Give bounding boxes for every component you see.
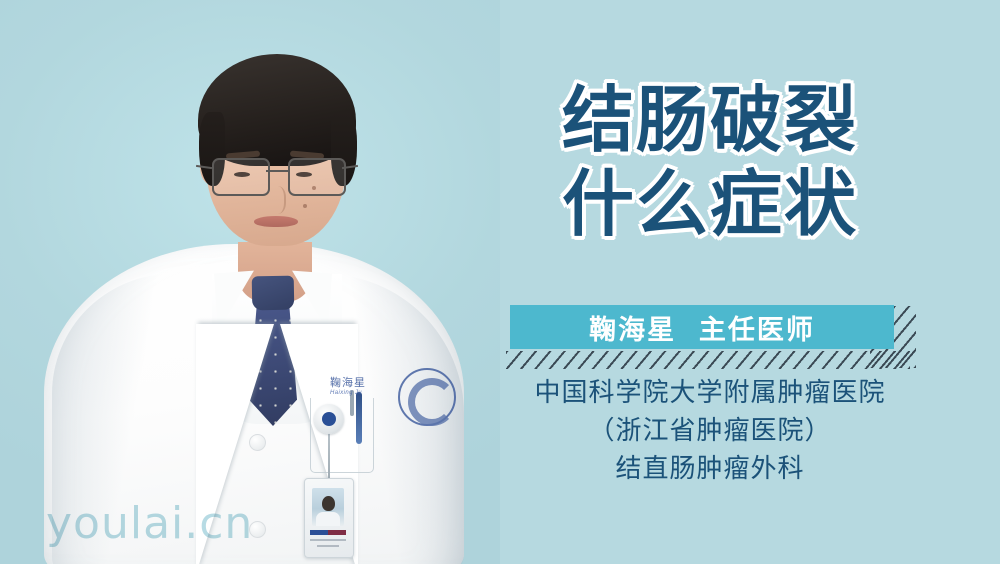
title-block: 结肠破裂 什么症状 bbox=[500, 78, 920, 246]
id-badge-photo-body bbox=[316, 512, 340, 526]
title-line-1: 结肠破裂 bbox=[500, 78, 920, 162]
badge-reel-cord bbox=[328, 432, 330, 482]
eyeglass-lens-left bbox=[212, 158, 270, 196]
embroidery-name-cn: 鞠海星 bbox=[330, 374, 408, 390]
coat-button bbox=[249, 521, 266, 538]
eyeglass-lens-right bbox=[288, 158, 346, 196]
id-badge-color-bar bbox=[310, 530, 346, 535]
id-badge-photo-head bbox=[322, 496, 335, 511]
hospital-name-line-2: （浙江省肿瘤医院） bbox=[490, 412, 930, 450]
nose bbox=[266, 186, 286, 214]
shirt-collar-right bbox=[288, 271, 332, 332]
diagonal-hatch-strip-bottom bbox=[506, 351, 910, 369]
mouth bbox=[254, 216, 298, 227]
hospital-department-line: 结直肠肿瘤外科 bbox=[490, 450, 930, 488]
coat-button bbox=[249, 434, 266, 451]
hospital-info-block: 中国科学院大学附属肿瘤医院 （浙江省肿瘤医院） 结直肠肿瘤外科 bbox=[490, 374, 930, 488]
title-line-2: 什么症状 bbox=[500, 162, 920, 246]
pen-icon bbox=[356, 392, 362, 444]
video-cover-canvas: 鞠海星 Haixing Ju 结肠破裂 什么症状 鞠海星 主任医师 中国科学院大… bbox=[0, 0, 1000, 564]
doctor-name-banner-group: 鞠海星 主任医师 bbox=[492, 300, 928, 372]
hospital-logo-icon bbox=[398, 368, 456, 426]
coat-embroidery: 鞠海星 Haixing Ju bbox=[330, 374, 408, 396]
facial-mole bbox=[303, 204, 307, 208]
eyeglass-bridge bbox=[266, 170, 288, 172]
id-badge-text-line bbox=[317, 545, 339, 547]
doctor-name-banner: 鞠海星 主任医师 bbox=[510, 305, 894, 349]
badge-reel-core bbox=[322, 412, 336, 426]
facial-mole bbox=[312, 186, 316, 190]
necktie-knot bbox=[252, 276, 295, 311]
id-badge-text-line bbox=[310, 539, 346, 541]
doctor-portrait: 鞠海星 Haixing Ju bbox=[0, 0, 500, 564]
embroidery-name-en: Haixing Ju bbox=[330, 390, 408, 396]
doctor-name-text: 鞠海星 主任医师 bbox=[589, 308, 815, 347]
hospital-name-line-1: 中国科学院大学附属肿瘤医院 bbox=[490, 374, 930, 412]
